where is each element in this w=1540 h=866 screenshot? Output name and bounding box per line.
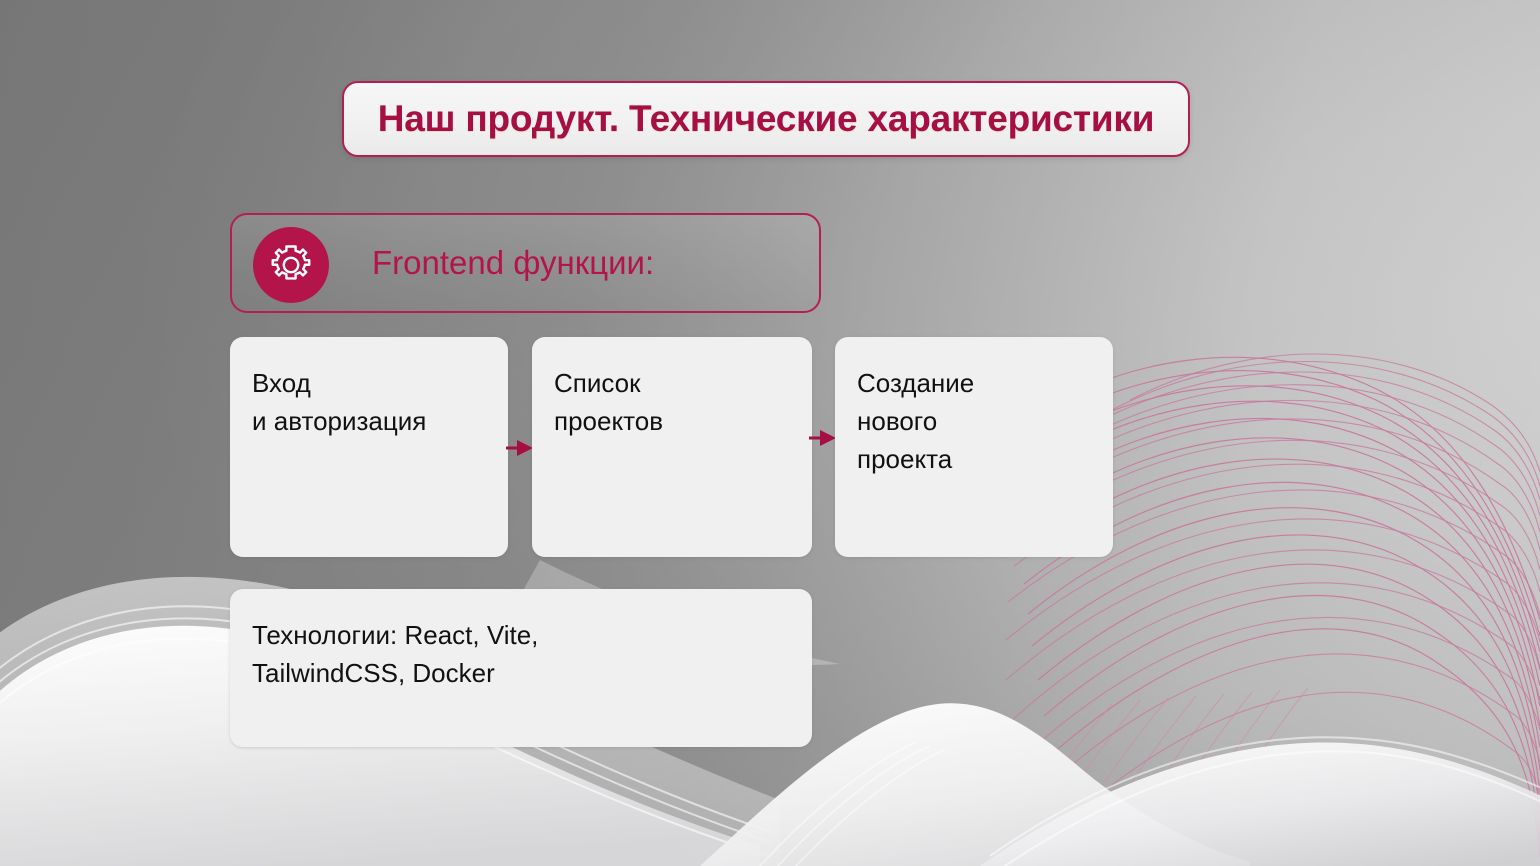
technologies-card[interactable]: Технологии: React, Vite, TailwindCSS, Do… [230, 589, 812, 747]
page-title: Наш продукт. Технические характеристики [378, 98, 1155, 140]
section-label: Frontend функции: [372, 244, 654, 282]
gear-icon [253, 227, 329, 303]
flow-card-projects-list[interactable]: Список проектов [532, 337, 812, 557]
slide-canvas: Наш продукт. Технические характеристики … [0, 0, 1540, 866]
flow-card-text: Список проектов [554, 365, 798, 441]
flow-card-login[interactable]: Вход и авторизация [230, 337, 508, 557]
flow-card-create-project[interactable]: Создание нового проекта [835, 337, 1113, 557]
slide-title-box: Наш продукт. Технические характеристики [342, 81, 1190, 157]
technologies-text: Технологии: React, Vite, TailwindCSS, Do… [252, 617, 798, 693]
flow-card-text: Создание нового проекта [857, 365, 1099, 479]
section-header-badge: Frontend функции: [230, 213, 821, 313]
flow-card-text: Вход и авторизация [252, 365, 494, 441]
